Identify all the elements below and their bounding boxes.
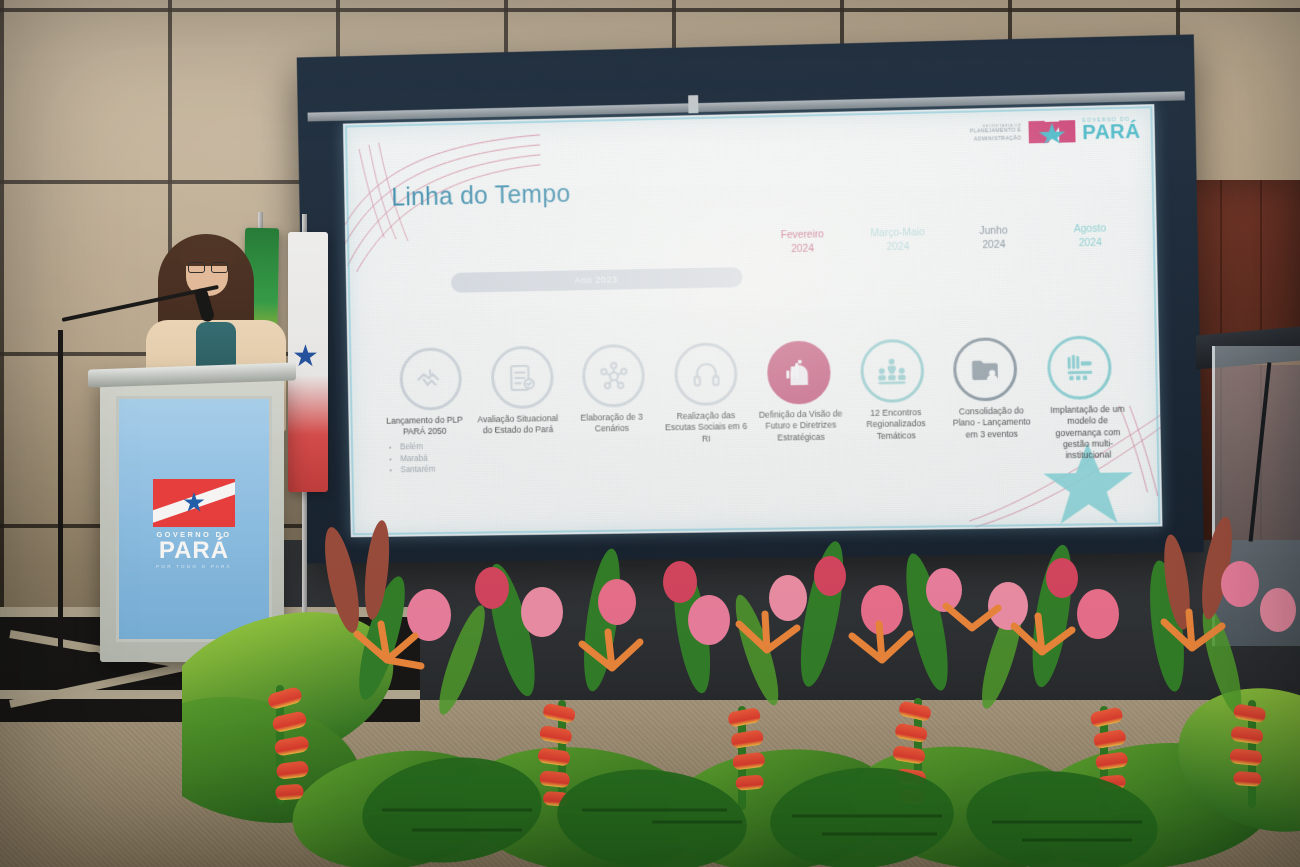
timeline-caption: Lançamento do PLP PARÁ 2050 Belém Marabá… — [378, 415, 472, 477]
timeline-caption: Implantação de um modelo de governança c… — [1039, 404, 1136, 463]
network-scenarios-icon — [582, 344, 646, 408]
timeline-step — [1032, 335, 1127, 400]
timeline-caption: Consolidação do Plano - Lançamento em 3 … — [943, 405, 1040, 441]
timeline-caption: 12 Encontros Regionalizados Temáticos — [848, 407, 944, 443]
timeline-icon-row — [384, 335, 1127, 411]
presentation-photo: SECRETARIA DE PLANEJAMENTO E ADMINISTRAÇ… — [0, 0, 1300, 867]
timeline-step — [845, 338, 940, 403]
year-bar-label: Ano 2023 — [575, 275, 618, 286]
date-year: 2024 — [946, 238, 1042, 254]
timeline-step — [938, 337, 1033, 402]
slide-title: Linha do Tempo — [391, 180, 571, 213]
projection-screen-frame: SECRETARIA DE PLANEJAMENTO E ADMINISTRAÇ… — [297, 34, 1204, 563]
governance-hand-icon — [1047, 335, 1112, 400]
floral-arrangement — [182, 510, 1300, 867]
document-checklist-icon — [490, 346, 553, 410]
date-column: Março-Maio 2024 — [850, 226, 946, 256]
projected-slide: SECRETARIA DE PLANEJAMENTO E ADMINISTRAÇ… — [343, 104, 1163, 537]
para-flag-mark-icon — [1028, 118, 1075, 145]
brand-logo: SECRETARIA DE PLANEJAMENTO E ADMINISTRAÇ… — [970, 117, 1141, 147]
microphone-stand-pole — [58, 330, 63, 660]
bullet-item: Belém — [400, 440, 468, 453]
timeline-caption: Realização das Escutas Sociais em 6 RI — [659, 410, 754, 446]
secretaria-label: SECRETARIA DE PLANEJAMENTO E ADMINISTRAÇ… — [970, 122, 1022, 144]
secretaria-line3: ADMINISTRAÇÃO — [970, 135, 1022, 144]
timeline-date-headers: Fevereiro 2024 Março-Maio 2024 Junho 202… — [755, 222, 1139, 258]
para-flag-star-icon: ★ — [292, 342, 319, 372]
date-column: Agosto 2024 — [1042, 222, 1139, 252]
date-year: 2024 — [850, 240, 946, 256]
megaphone-listening-icon — [674, 342, 738, 406]
date-column: Junho 2024 — [945, 224, 1042, 254]
timeline-caption: Avaliação Situacional do Estado do Pará — [471, 413, 565, 437]
timeline-step — [752, 340, 846, 405]
microphone-stand-base — [22, 652, 100, 659]
people-group-icon — [860, 339, 925, 403]
speaker-glasses-icon — [188, 262, 228, 271]
timeline-caption: Definição da Visão de Futuro e Diretrize… — [753, 408, 849, 444]
caption-text: Lançamento do PLP PARÁ 2050 — [382, 415, 468, 439]
bullet-item: Santarém — [400, 464, 468, 477]
date-year: 2024 — [755, 242, 850, 258]
secretaria-line1: SECRETARIA DE — [970, 122, 1022, 129]
timeline-step — [476, 345, 569, 409]
bullet-item: Marabá — [400, 452, 468, 465]
head-chart-vision-icon — [767, 340, 831, 404]
timeline-step — [659, 342, 753, 407]
caption-bullets: Belém Marabá Santarém — [382, 440, 468, 477]
timeline-caption: Elaboração de 3 Cenários — [565, 411, 659, 435]
handshake-icon — [399, 347, 462, 411]
folder-person-icon — [953, 337, 1018, 401]
floral-svg — [182, 510, 1300, 867]
year-bar-2023: Ano 2023 — [451, 267, 743, 293]
timeline-captions: Lançamento do PLP PARÁ 2050 Belém Marabá… — [378, 404, 1137, 477]
timeline-step — [384, 347, 476, 411]
para-label: PARÁ — [1082, 122, 1141, 143]
governo-do-para-wordmark: GOVERNO DO PARÁ — [1082, 118, 1141, 143]
timeline-step — [567, 344, 660, 408]
date-year: 2024 — [1042, 236, 1139, 252]
date-column: Fevereiro 2024 — [755, 228, 851, 258]
